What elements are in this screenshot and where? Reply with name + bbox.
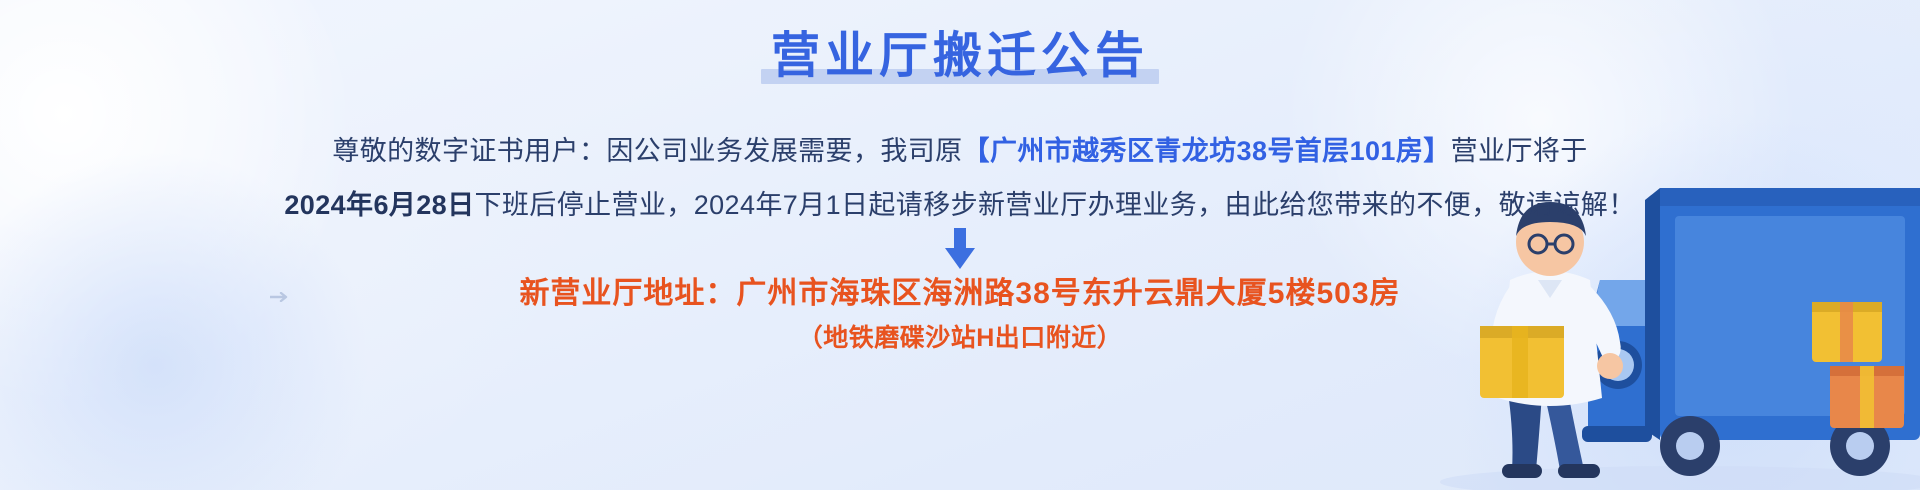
arrow-down-icon	[940, 228, 980, 270]
banner-title: 营业厅搬迁公告	[761, 28, 1159, 87]
notice-paragraph: 尊敬的数字证书用户：因公司业务发展需要，我司原【广州市越秀区青龙坊38号首层10…	[0, 124, 1920, 232]
closing-date-emphasis: 2024年6月28日	[284, 190, 474, 220]
small-pointer-icon	[270, 292, 292, 302]
notice-line-2-rest: 下班后停止营业，2024年7月1日起请移步新营业厅办理业务，由此给您带来的不便，…	[475, 190, 1636, 220]
new-address-block: 新营业厅地址：广州市海珠区海洲路38号东升云鼎大厦5楼503房 （地铁磨碟沙站H…	[0, 272, 1920, 358]
notice-line-1-suffix: 营业厅将于	[1451, 136, 1588, 166]
notice-line-1-prefix: 尊敬的数字证书用户：因公司业务发展需要，我司原	[332, 136, 962, 166]
banner-content: 营业厅搬迁公告 尊敬的数字证书用户：因公司业务发展需要，我司原【广州市越秀区青龙…	[0, 0, 1920, 490]
banner-title-text: 营业厅搬迁公告	[771, 29, 1149, 83]
migration-notice-banner: 营业厅搬迁公告 尊敬的数字证书用户：因公司业务发展需要，我司原【广州市越秀区青龙…	[0, 0, 1920, 490]
arrow-row	[0, 228, 1920, 272]
notice-line-1: 尊敬的数字证书用户：因公司业务发展需要，我司原【广州市越秀区青龙坊38号首层10…	[0, 124, 1920, 178]
old-address-highlight: 【广州市越秀区青龙坊38号首层101房】	[963, 136, 1451, 166]
new-address-note: （地铁磨碟沙站H出口附近）	[0, 318, 1920, 358]
notice-line-2: 2024年6月28日下班后停止营业，2024年7月1日起请移步新营业厅办理业务，…	[0, 178, 1920, 232]
title-container: 营业厅搬迁公告	[0, 28, 1920, 87]
